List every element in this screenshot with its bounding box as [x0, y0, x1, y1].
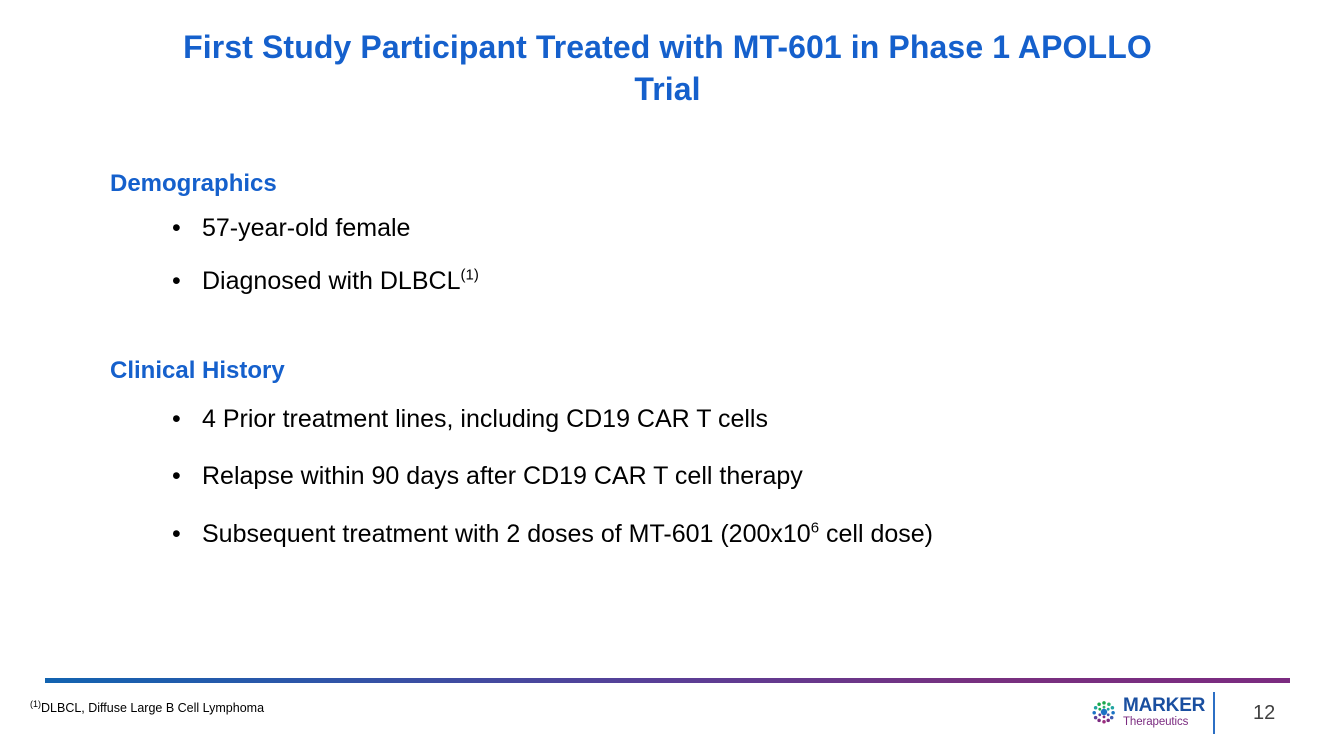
list-item-label: 57-year-old female — [202, 214, 410, 242]
bullet-dot-icon: • — [172, 461, 181, 492]
list-item: • Subsequent treatment with 2 doses of M… — [110, 519, 1210, 550]
footnote-text: DLBCL, Diffuse Large B Cell Lymphoma — [41, 701, 264, 715]
brand-logo: MARKER Therapeutics — [1090, 694, 1205, 730]
bullet-dot-icon: • — [172, 404, 181, 435]
brand-subtitle: Therapeutics — [1123, 717, 1205, 729]
footnote-reference: (1) — [460, 267, 478, 284]
bullet-list-demographics: • 57-year-old female • Diagnosed with DL… — [110, 213, 1210, 298]
bullet-dot-icon: • — [172, 213, 181, 244]
marker-dot-cluster-icon — [1090, 698, 1118, 726]
list-item: • 57-year-old female — [110, 213, 1210, 244]
brand-name: MARKER — [1123, 696, 1205, 715]
list-item: • Diagnosed with DLBCL(1) — [110, 266, 1210, 297]
slide-body: Demographics • 57-year-old female • Diag… — [110, 170, 1210, 576]
page-title: First Study Participant Treated with MT-… — [180, 26, 1155, 110]
bullet-dot-icon: • — [172, 519, 181, 550]
list-item: • Relapse within 90 days after CD19 CAR … — [110, 461, 1210, 492]
section-clinical-history: Clinical History • 4 Prior treatment lin… — [110, 357, 1210, 550]
list-item-label-suffix: cell dose) — [819, 520, 933, 548]
section-heading-clinical-history: Clinical History — [110, 357, 1210, 386]
list-item-label: Relapse within 90 days after CD19 CAR T … — [202, 462, 803, 490]
section-demographics: Demographics • 57-year-old female • Diag… — [110, 170, 1210, 297]
footer-vertical-separator — [1213, 692, 1215, 734]
footnote: (1)DLBCL, Diffuse Large B Cell Lymphoma — [30, 701, 264, 715]
bullet-dot-icon: • — [172, 266, 181, 297]
list-item-label: 4 Prior treatment lines, including CD19 … — [202, 405, 768, 433]
slide-canvas: First Study Participant Treated with MT-… — [0, 0, 1333, 749]
list-item-label: Subsequent treatment with 2 doses of MT-… — [202, 520, 811, 548]
section-heading-demographics: Demographics — [110, 170, 1210, 199]
exponent: 6 — [811, 519, 819, 536]
brand-wordmark: MARKER Therapeutics — [1123, 696, 1205, 729]
footnote-marker: (1) — [30, 699, 41, 709]
list-item: • 4 Prior treatment lines, including CD1… — [110, 404, 1210, 435]
page-number: 12 — [1253, 702, 1275, 725]
footer-divider — [45, 678, 1290, 683]
bullet-list-clinical-history: • 4 Prior treatment lines, including CD1… — [110, 404, 1210, 550]
list-item-label: Diagnosed with DLBCL — [202, 267, 460, 295]
